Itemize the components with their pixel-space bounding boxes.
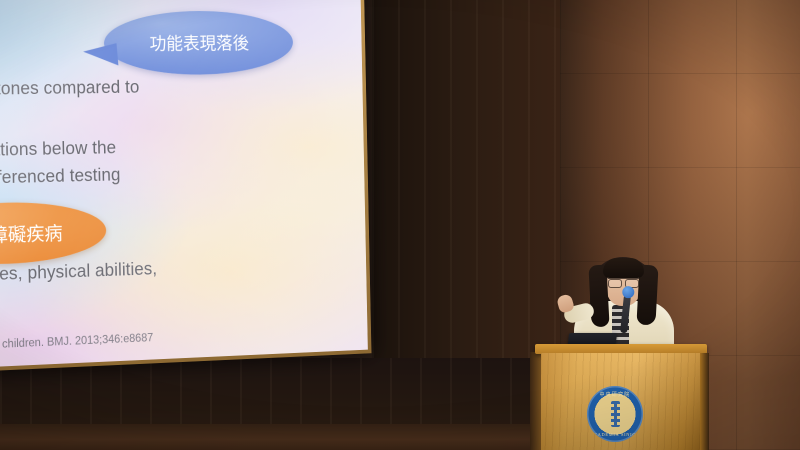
glasses-icon [608,278,639,287]
slide-line-4: ndardized norm-referenced testing [0,165,121,192]
logo-center-glyph [611,401,620,427]
slide-line-2: velopmental milestones compared to [0,77,140,101]
academia-sinica-logo-icon: 中央研究院 ACADEMIA SINICA [587,386,643,442]
logo-english-text: ACADEMIA SINICA [587,432,643,437]
presentation-slide: velopmental disabilities difficulties): … [0,0,368,372]
speech-bubble-orange: 發展障礙疾病 [0,200,107,267]
speaker-presenter [560,255,690,355]
slide-citation: velopmental assessment of children. BMJ.… [0,324,352,357]
photo-scene: velopmental disabilities difficulties): … [0,0,800,450]
logo-chinese-text: 中央研究院 [587,391,643,398]
speaker-hair-front [603,258,644,278]
slide-line-5: intellectual abilities, physical abiliti… [0,259,157,290]
screen-frame: velopmental disabilities difficulties): … [0,0,371,376]
stage-floor [0,424,580,450]
podium-right-side [700,353,709,450]
speech-bubble-orange-label: 發展障礙疾病 [0,218,63,248]
slide-line-3: ore standard deviations below the [0,138,116,164]
speech-bubble-blue: 功能表現落後 [103,11,293,76]
speech-bubble-blue-label: 功能表現落後 [149,30,249,56]
lectern-podium: 中央研究院 ACADEMIA SINICA [541,344,701,450]
projection-screen: velopmental disabilities difficulties): … [0,0,371,376]
